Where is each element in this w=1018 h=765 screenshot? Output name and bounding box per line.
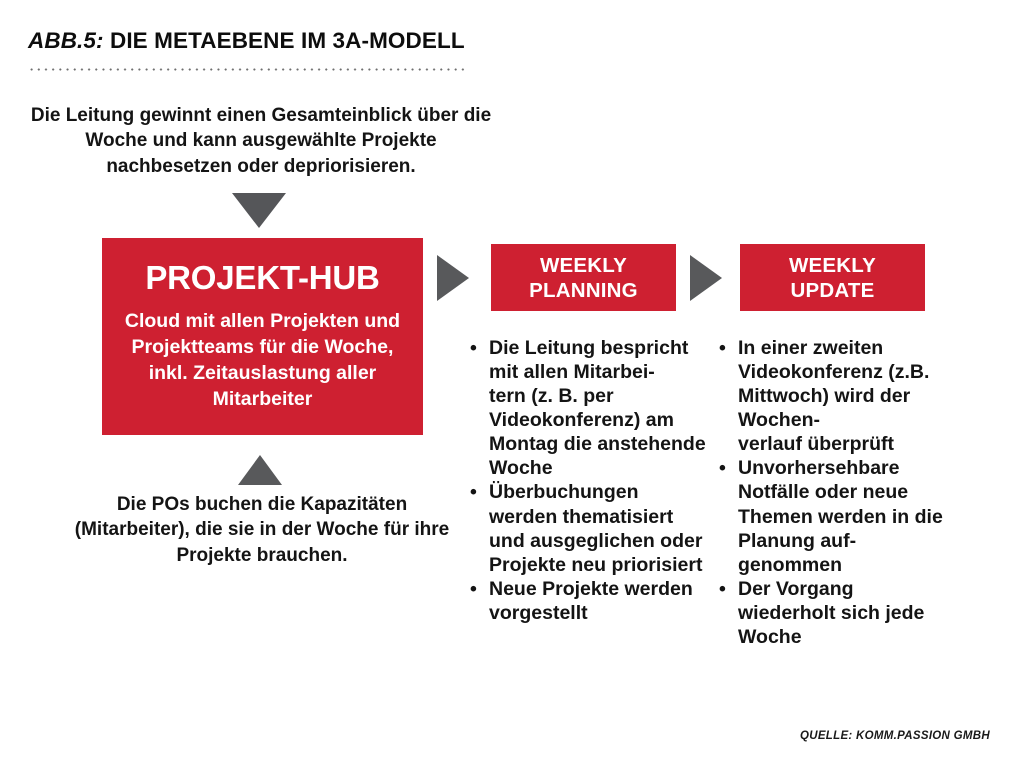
list-item: •Die Leitung bespricht mit allen Mitarbe… [468, 336, 708, 480]
list-item: •Überbuchungen werden thematisiert und a… [468, 480, 708, 576]
projekt-hub-title: PROJEKT-HUB [118, 260, 407, 296]
list-item-label: Neue Projekte werden vorgestellt [489, 577, 708, 625]
weekly-update-bullet-list: •In einer zweiten Videokonferenz (z.B. M… [717, 336, 952, 649]
weekly-planning-box[interactable]: WEEKLY PLANNING [491, 244, 676, 311]
list-item-label: In einer zweiten Videokonferenz (z.B. Mi… [738, 336, 952, 456]
bullet-dot-icon: • [470, 336, 477, 360]
weekly-update-box[interactable]: WEEKLY UPDATE [740, 244, 925, 311]
source-note: QUELLE: KOMM.PASSION GMBH [800, 730, 990, 742]
list-item: •Der Vorgang wiederholt sich jede Woche [717, 577, 952, 649]
title-divider [28, 68, 468, 71]
weekly-planning-bullet-list: •Die Leitung bespricht mit allen Mitarbe… [468, 336, 708, 625]
arrow-down-icon [232, 193, 286, 228]
figure-title-text: DIE METAEBENE IM 3A-MODELL [110, 28, 465, 53]
list-item-label: Überbuchungen werden thematisiert und au… [489, 480, 708, 576]
bullet-dot-icon: • [719, 456, 726, 480]
figure-title-block: ABB.5: DIE METAEBENE IM 3A-MODELL [28, 28, 988, 54]
bullet-dot-icon: • [470, 577, 477, 601]
figure-number: ABB.5: [28, 28, 104, 53]
caption-top: Die Leitung gewinnt einen Gesamteinblick… [22, 103, 500, 179]
list-item-label: Die Leitung bespricht mit allen Mitarbei… [489, 336, 708, 480]
list-item-label: Der Vorgang wiederholt sich jede Woche [738, 577, 952, 649]
projekt-hub-box[interactable]: PROJEKT-HUB Cloud mit allen Projekten un… [102, 238, 423, 435]
bullet-dot-icon: • [719, 577, 726, 601]
page-title: ABB.5: DIE METAEBENE IM 3A-MODELL [28, 28, 988, 54]
list-item: •Neue Projekte werden vorgestellt [468, 577, 708, 625]
arrow-right-icon-hub-to-planning [437, 255, 469, 301]
weekly-planning-heading: WEEKLY PLANNING [529, 253, 638, 303]
bullet-dot-icon: • [470, 480, 477, 504]
bullet-dot-icon: • [719, 336, 726, 360]
arrow-up-icon [238, 455, 282, 485]
arrow-right-icon-planning-to-update [690, 255, 722, 301]
list-item: •Unvorhersehbare Notfälle oder neue Them… [717, 456, 952, 576]
list-item: •In einer zweiten Videokonferenz (z.B. M… [717, 336, 952, 456]
weekly-update-heading: WEEKLY UPDATE [789, 253, 876, 303]
caption-bottom: Die POs buchen die Kapazitäten (Mitarbei… [62, 492, 462, 568]
projekt-hub-subtitle: Cloud mit allen Projekten und Projekttea… [118, 309, 407, 412]
list-item-label: Unvorhersehbare Notfälle oder neue Theme… [738, 456, 952, 576]
